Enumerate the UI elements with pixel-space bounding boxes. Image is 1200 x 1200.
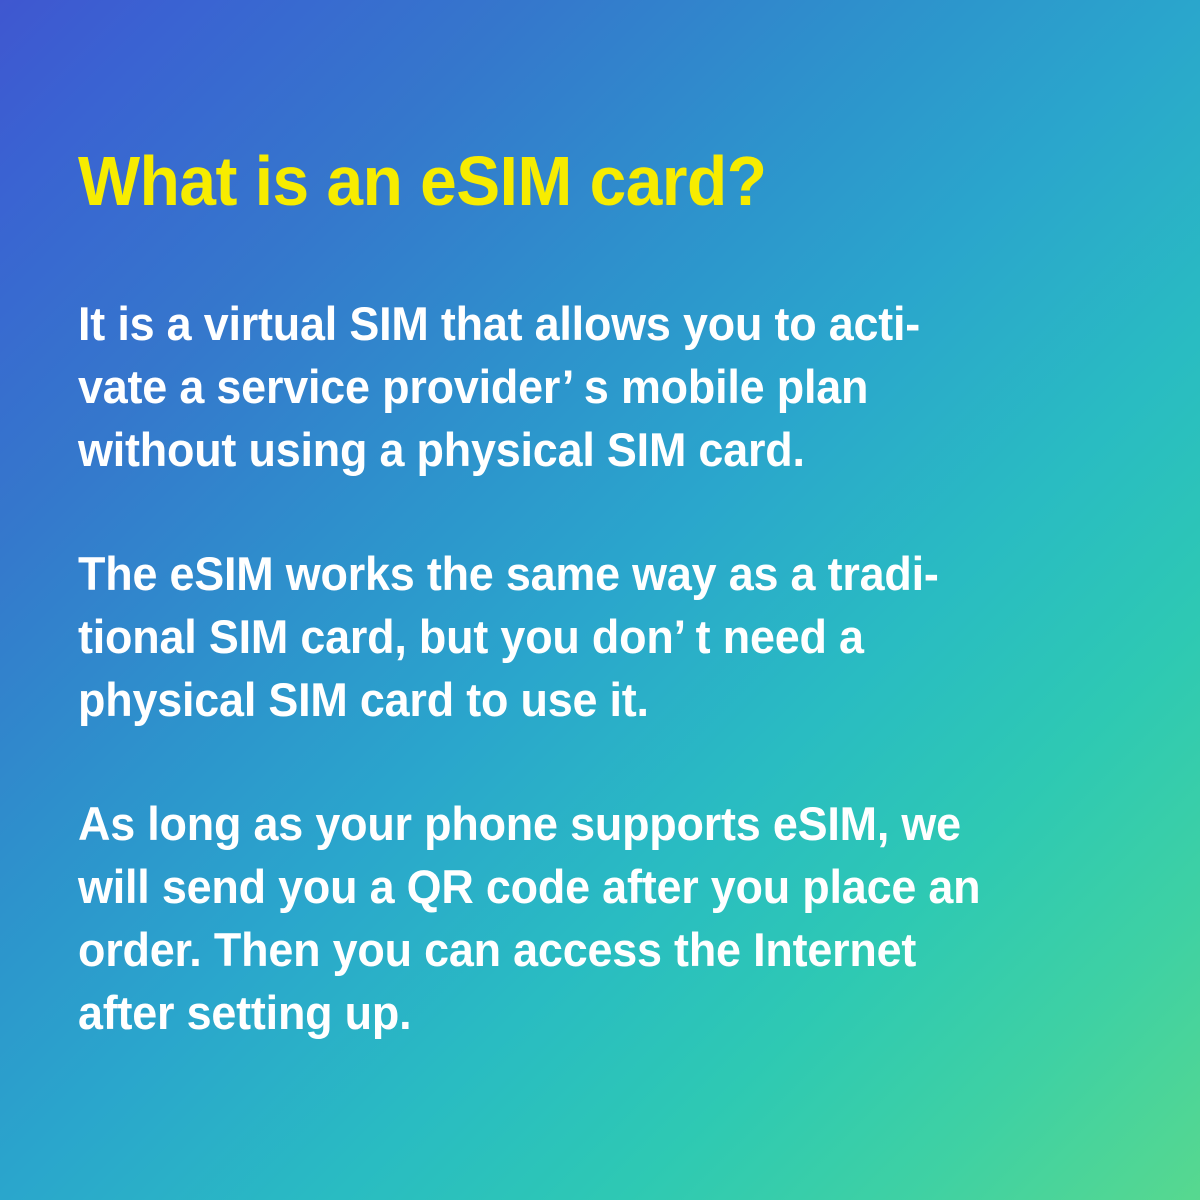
paragraph-line: after setting up. <box>78 981 1023 1044</box>
paragraph-delivery: As long as your phone supports eSIM, we … <box>78 792 1023 1044</box>
paragraph-line: As long as your phone supports eSIM, we <box>78 792 1023 855</box>
paragraph-line: It is a virtual SIM that allows you to a… <box>78 292 1023 355</box>
paragraph-line: The eSIM works the same way as a tradi- <box>78 542 1023 605</box>
paragraph-line: will send you a QR code after you place … <box>78 855 1023 918</box>
paragraph-line: physical SIM card to use it. <box>78 668 1023 731</box>
paragraph-definition: It is a virtual SIM that allows you to a… <box>78 292 1023 481</box>
esim-info-card: What is an eSIM card? It is a virtual SI… <box>0 0 1200 1200</box>
paragraph-line: without using a physical SIM card. <box>78 418 1023 481</box>
paragraph-how-it-works: The eSIM works the same way as a tradi- … <box>78 542 1023 731</box>
page-title: What is an eSIM card? <box>78 146 766 216</box>
paragraph-line: tional SIM card, but you don’ t need a <box>78 605 1023 668</box>
paragraph-line: order. Then you can access the Internet <box>78 918 1023 981</box>
body-copy: It is a virtual SIM that allows you to a… <box>78 292 1068 1044</box>
paragraph-line: vate a service provider’ s mobile plan <box>78 355 1023 418</box>
